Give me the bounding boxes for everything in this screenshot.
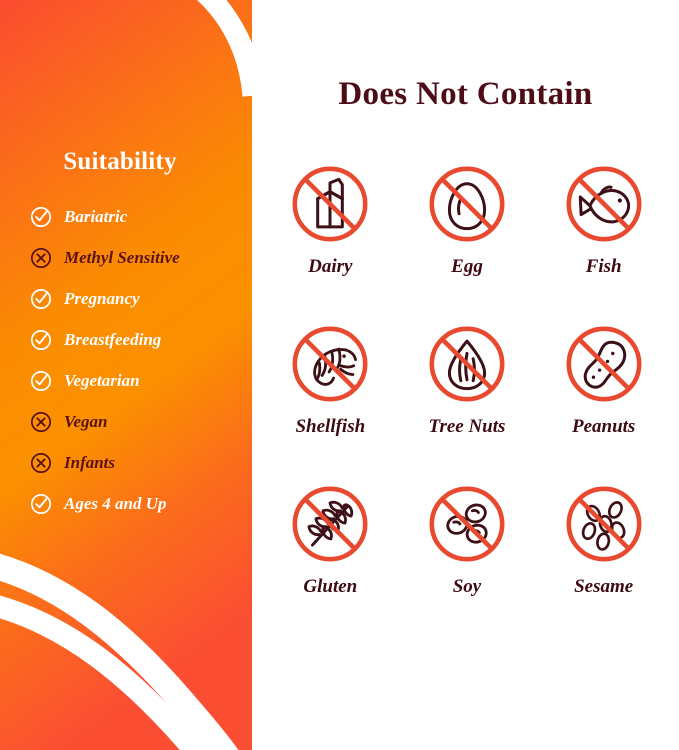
suitability-title: Suitability <box>0 148 240 176</box>
check-circle-icon <box>30 288 52 310</box>
almond-no-icon <box>423 320 511 408</box>
soybean-no-icon <box>423 480 511 568</box>
allergen-label: Shellfish <box>295 416 365 438</box>
allergen-item: Egg <box>399 160 536 278</box>
suitability-item-label: Bariatric <box>64 208 127 225</box>
allergen-item: Fish <box>535 160 672 278</box>
check-circle-icon <box>30 329 52 351</box>
suitability-list: Bariatric Methyl Sensitive Pregnancy <box>30 196 252 524</box>
suitability-item-label: Vegan <box>64 413 107 430</box>
allergen-item: Dairy <box>262 160 399 278</box>
shrimp-no-icon <box>286 320 374 408</box>
suitability-item-label: Pregnancy <box>64 290 140 307</box>
allergen-item: Tree Nuts <box>399 320 536 438</box>
allergen-item: Gluten <box>262 480 399 598</box>
suitability-item-label: Infants <box>64 454 115 471</box>
wheat-no-icon <box>286 480 374 568</box>
allergen-item: Shellfish <box>262 320 399 438</box>
allergen-label: Dairy <box>308 256 352 278</box>
suitability-item: Breastfeeding <box>30 319 252 360</box>
allergen-label: Fish <box>586 256 622 278</box>
allergen-grid: Dairy Egg <box>262 160 672 598</box>
allergen-label: Soy <box>453 576 482 598</box>
fish-no-icon <box>560 160 648 248</box>
does-not-contain-panel: Does Not Contain Dairy <box>252 0 679 750</box>
x-circle-icon <box>30 247 52 269</box>
suitability-item: Bariatric <box>30 196 252 237</box>
milk-carton-no-icon <box>286 160 374 248</box>
allergen-label: Peanuts <box>572 416 635 438</box>
egg-no-icon <box>423 160 511 248</box>
suitability-item: Pregnancy <box>30 278 252 319</box>
sesame-seeds-no-icon <box>560 480 648 568</box>
peanut-no-icon <box>560 320 648 408</box>
check-circle-icon <box>30 370 52 392</box>
suitability-item: Methyl Sensitive <box>30 237 252 278</box>
suitability-item-label: Methyl Sensitive <box>64 249 180 266</box>
does-not-contain-title: Does Not Contain <box>252 76 679 113</box>
allergen-item: Peanuts <box>535 320 672 438</box>
allergen-label: Tree Nuts <box>429 416 506 438</box>
allergen-label: Egg <box>451 256 483 278</box>
suitability-item-label: Breastfeeding <box>64 331 161 348</box>
allergen-label: Gluten <box>303 576 357 598</box>
suitability-panel: Suitability Bariatric Methyl Sensitive <box>0 0 252 750</box>
suitability-item: Vegetarian <box>30 360 252 401</box>
suitability-item: Vegan <box>30 401 252 442</box>
suitability-item: Infants <box>30 442 252 483</box>
allergen-label: Sesame <box>574 576 633 598</box>
suitability-item: Ages 4 and Up <box>30 483 252 524</box>
allergen-item: Soy <box>399 480 536 598</box>
check-circle-icon <box>30 493 52 515</box>
suitability-item-label: Vegetarian <box>64 372 140 389</box>
allergen-item: Sesame <box>535 480 672 598</box>
x-circle-icon <box>30 411 52 433</box>
x-circle-icon <box>30 452 52 474</box>
check-circle-icon <box>30 206 52 228</box>
product-info-panel: Suitability Bariatric Methyl Sensitive <box>0 0 679 750</box>
suitability-item-label: Ages 4 and Up <box>64 495 166 512</box>
